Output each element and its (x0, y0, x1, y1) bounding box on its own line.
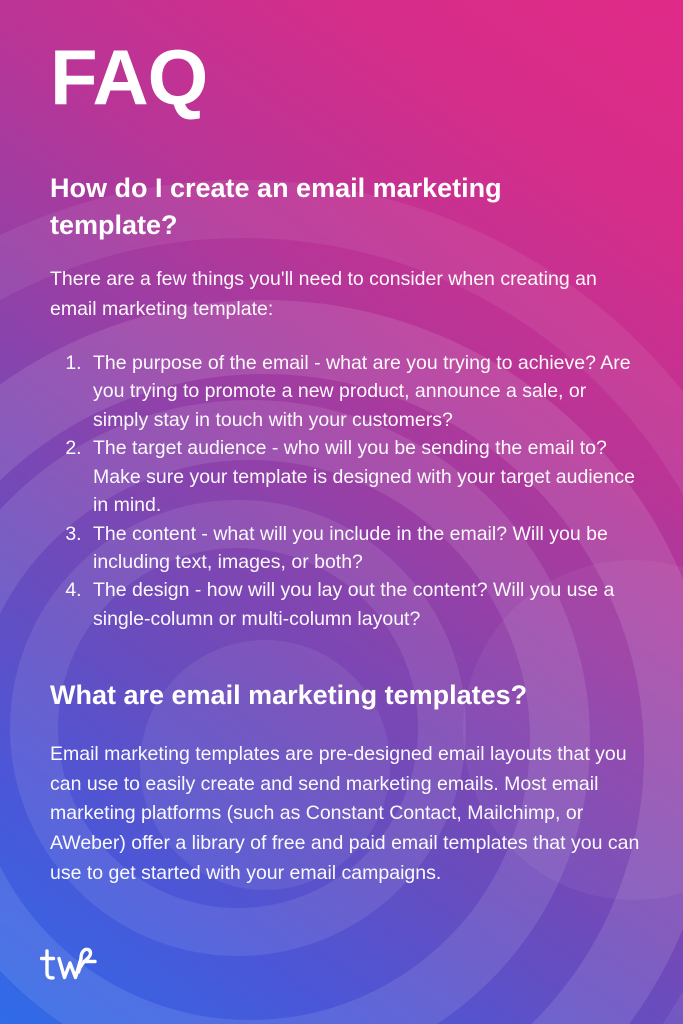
tw-logo-icon (40, 945, 102, 985)
section-spacer (50, 633, 643, 677)
question-heading-one: How do I create an email marketing templ… (50, 170, 610, 243)
page-title: FAQ (50, 38, 643, 116)
question-two-answer: Email marketing templates are pre-design… (50, 740, 640, 888)
question-heading-two: What are email marketing templates? (50, 677, 643, 714)
faq-poster: FAQ How do I create an email marketing t… (0, 0, 683, 1024)
question-one-intro: There are a few things you'll need to co… (50, 265, 635, 324)
list-item: The design - how will you lay out the co… (87, 576, 643, 633)
list-item: The content - what will you include in t… (87, 520, 643, 577)
list-item: The target audience - who will you be se… (87, 434, 643, 519)
consideration-list: The purpose of the email - what are you … (50, 349, 643, 634)
poster-content: FAQ How do I create an email marketing t… (0, 0, 683, 1024)
list-item: The purpose of the email - what are you … (87, 349, 643, 434)
brand-logo (40, 945, 102, 990)
